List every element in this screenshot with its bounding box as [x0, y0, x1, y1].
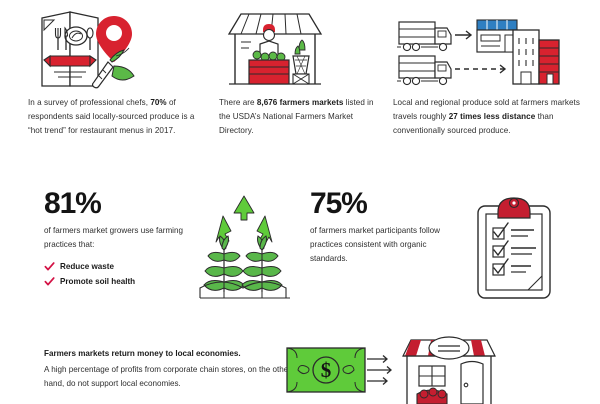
stat-block-organic: 75% of farmers market participants follo… [300, 188, 600, 318]
svg-text:$: $ [321, 358, 332, 382]
check-icon [44, 276, 55, 287]
list-item: Promote soil health [44, 274, 186, 289]
money-to-storefront-illustration: $ [283, 332, 498, 404]
stat-percent-81: 81% [44, 188, 186, 220]
stat-block-growers: 81% of farmers market growers use farmin… [0, 188, 300, 318]
bullet-label: Promote soil health [60, 274, 135, 289]
stat-card-distance-text: Local and regional produce sold at farme… [393, 96, 600, 139]
stat-card-markets: There are 8,676 farmers markets listed i… [205, 0, 385, 180]
text-segment: In a survey of professional chefs, [28, 98, 150, 107]
stat-subtitle-growers: of farmers market growers use farming pr… [44, 224, 186, 252]
bullet-list-practices: Reduce waste Promote soil health [44, 259, 186, 289]
arrows-right-icon [367, 356, 391, 385]
farmers-market-stall-icon [219, 0, 385, 96]
delivery-trucks-to-store-and-city-icon [393, 0, 600, 96]
text-segment: There are [219, 98, 257, 107]
recycle-plants-icon [186, 188, 300, 318]
highlight-value: 27 times less distance [449, 112, 536, 121]
stat-subtitle-organic: of farmers market participants follow pr… [310, 224, 460, 267]
infographic-page: In a survey of professional chefs, 70% o… [0, 0, 600, 400]
dollar-bill-icon: $ [287, 348, 365, 392]
restaurant-menu-with-location-pin-icon [28, 0, 205, 96]
stat-card-chefs: In a survey of professional chefs, 70% o… [0, 0, 205, 180]
top-statistics-row: In a survey of professional chefs, 70% o… [0, 0, 600, 180]
bullet-label: Reduce waste [60, 259, 114, 274]
bottom-statement-row: Farmers markets return money to local ec… [0, 330, 600, 400]
stat-percent-75: 75% [310, 188, 460, 220]
stat-card-distance: Local and regional produce sold at farme… [385, 0, 600, 180]
highlight-value: 70% [150, 98, 166, 107]
stat-card-markets-text: There are 8,676 farmers markets listed i… [219, 96, 385, 139]
check-icon [44, 261, 55, 272]
list-item: Reduce waste [44, 259, 186, 274]
bottom-headline: Farmers markets return money to local ec… [44, 346, 294, 361]
bottom-text-block: Farmers markets return money to local ec… [44, 346, 294, 391]
middle-statistics-row: 81% of farmers market growers use farmin… [0, 188, 600, 318]
local-storefront-icon [403, 337, 495, 404]
bottom-body: A high percentage of profits from corpor… [44, 363, 294, 391]
highlight-value: 8,676 farmers markets [257, 98, 344, 107]
stat-card-chefs-text: In a survey of professional chefs, 70% o… [28, 96, 205, 139]
clipboard-checklist-icon [460, 188, 600, 318]
